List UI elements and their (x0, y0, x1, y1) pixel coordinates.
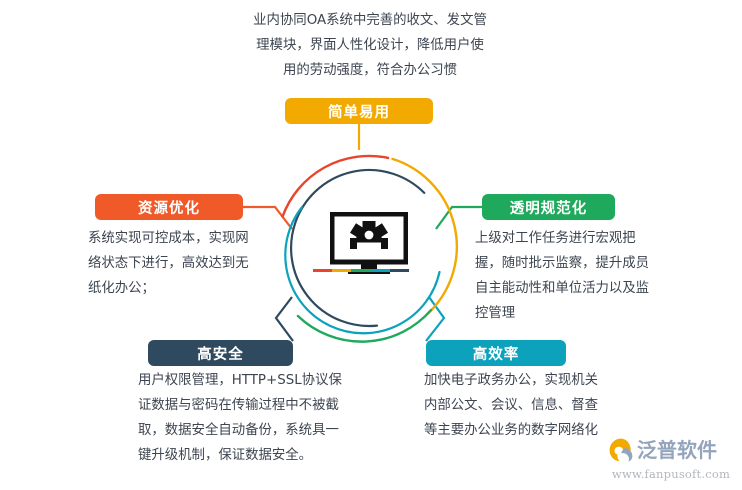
fanpu-logo-icon (608, 437, 634, 463)
badge-efficiency[interactable]: 高效率 (426, 340, 566, 366)
outer-arc-orange (283, 156, 389, 217)
brand-name: 泛普软件 (637, 440, 717, 460)
description-simple: 业内协同OA系统中完善的收文、发文管理模块，界面人性化设计，降低用户使用的劳动强… (250, 8, 490, 83)
description-resource: 系统实现可控成本，实现网络状态下进行，高效达到无纸化办公； (88, 226, 254, 301)
rainbow-divider (313, 269, 409, 272)
description-transparent: 上级对工作任务进行宏观把握，随时批示监察，提升成员自主能动性和单位活力以及监控管… (475, 226, 655, 326)
brand-url: www.fanpusoft.com (608, 467, 734, 481)
description-security: 用户权限管理，HTTP+SSL协议保证数据与密码在传输过程中不被截取，数据安全自… (138, 368, 348, 468)
badge-security[interactable]: 高安全 (148, 340, 293, 366)
diagram-canvas: 简单易用 资源优化 透明规范化 高安全 高效率 业内协同OA系统中完善的收文、发… (0, 0, 742, 490)
badge-simple[interactable]: 简单易用 (285, 98, 433, 124)
badge-transparent[interactable]: 透明规范化 (482, 194, 615, 220)
brand-watermark: 泛普软件 www.fanpusoft.com (608, 437, 734, 482)
description-efficiency: 加快电子政务办公，实现机关内部公文、会议、信息、督查等主要办公业务的数字网络化 (424, 368, 604, 443)
badge-resource[interactable]: 资源优化 (95, 194, 243, 220)
